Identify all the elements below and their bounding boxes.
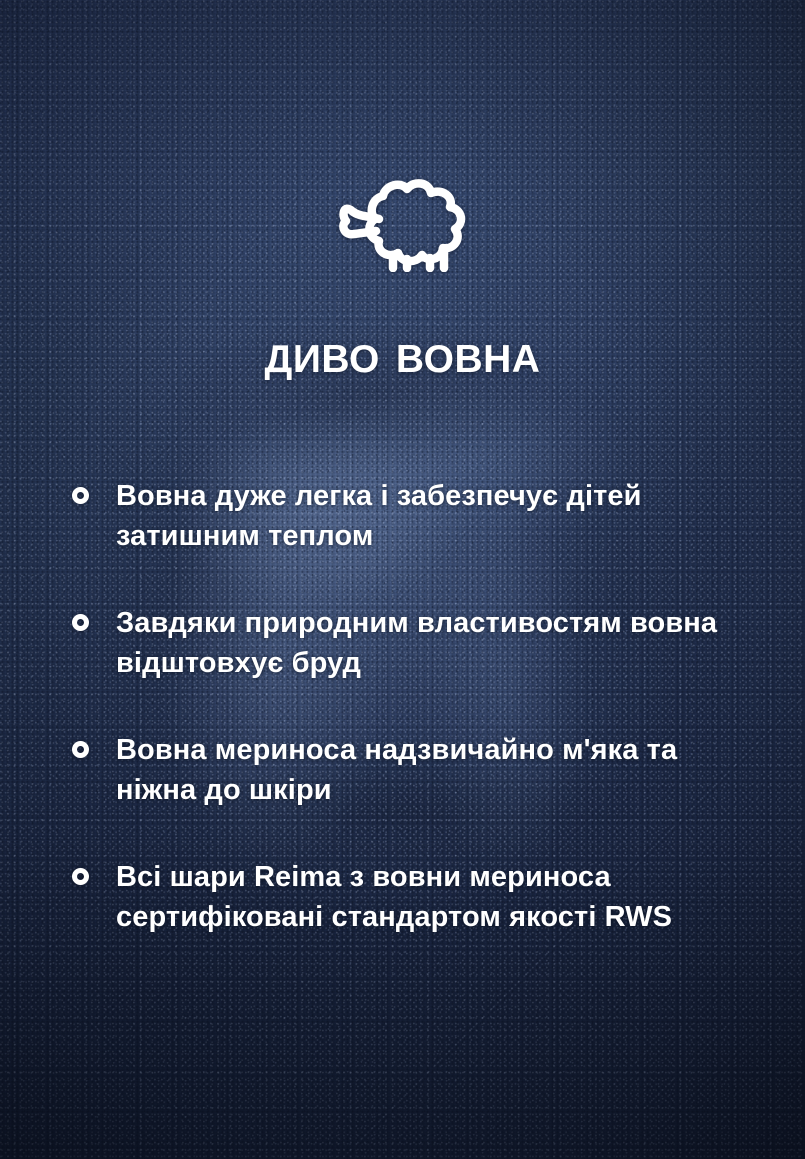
list-item-label: Вовна дуже легка і забезпечує дітей зати…	[116, 476, 757, 556]
list-item-label: Всі шари Reima з вовни мериноса сертифік…	[116, 857, 757, 937]
ring-bullet-icon	[72, 487, 89, 504]
wool-feature-poster: Диво вовна Вовна дуже легка і забезпечує…	[0, 0, 805, 1159]
list-item: Вовна дуже легка і забезпечує дітей зати…	[72, 476, 757, 556]
list-item-label: Завдяки природним властивостям вовна від…	[116, 603, 757, 683]
list-item-label: Вовна мериноса надзвичайно м'яка та ніжн…	[116, 730, 757, 810]
ring-bullet-icon	[72, 868, 89, 885]
list-item: Вовна мериноса надзвичайно м'яка та ніжн…	[72, 730, 757, 810]
sheep-icon	[0, 176, 805, 272]
list-item: Всі шари Reima з вовни мериноса сертифік…	[72, 857, 757, 937]
poster-content: Диво вовна Вовна дуже легка і забезпечує…	[0, 0, 805, 1159]
list-item: Завдяки природним властивостям вовна від…	[72, 603, 757, 683]
feature-bullet-list: Вовна дуже легка і забезпечує дітей зати…	[72, 476, 757, 937]
ring-bullet-icon	[72, 741, 89, 758]
ring-bullet-icon	[72, 614, 89, 631]
page-title: Диво вовна	[0, 322, 805, 384]
